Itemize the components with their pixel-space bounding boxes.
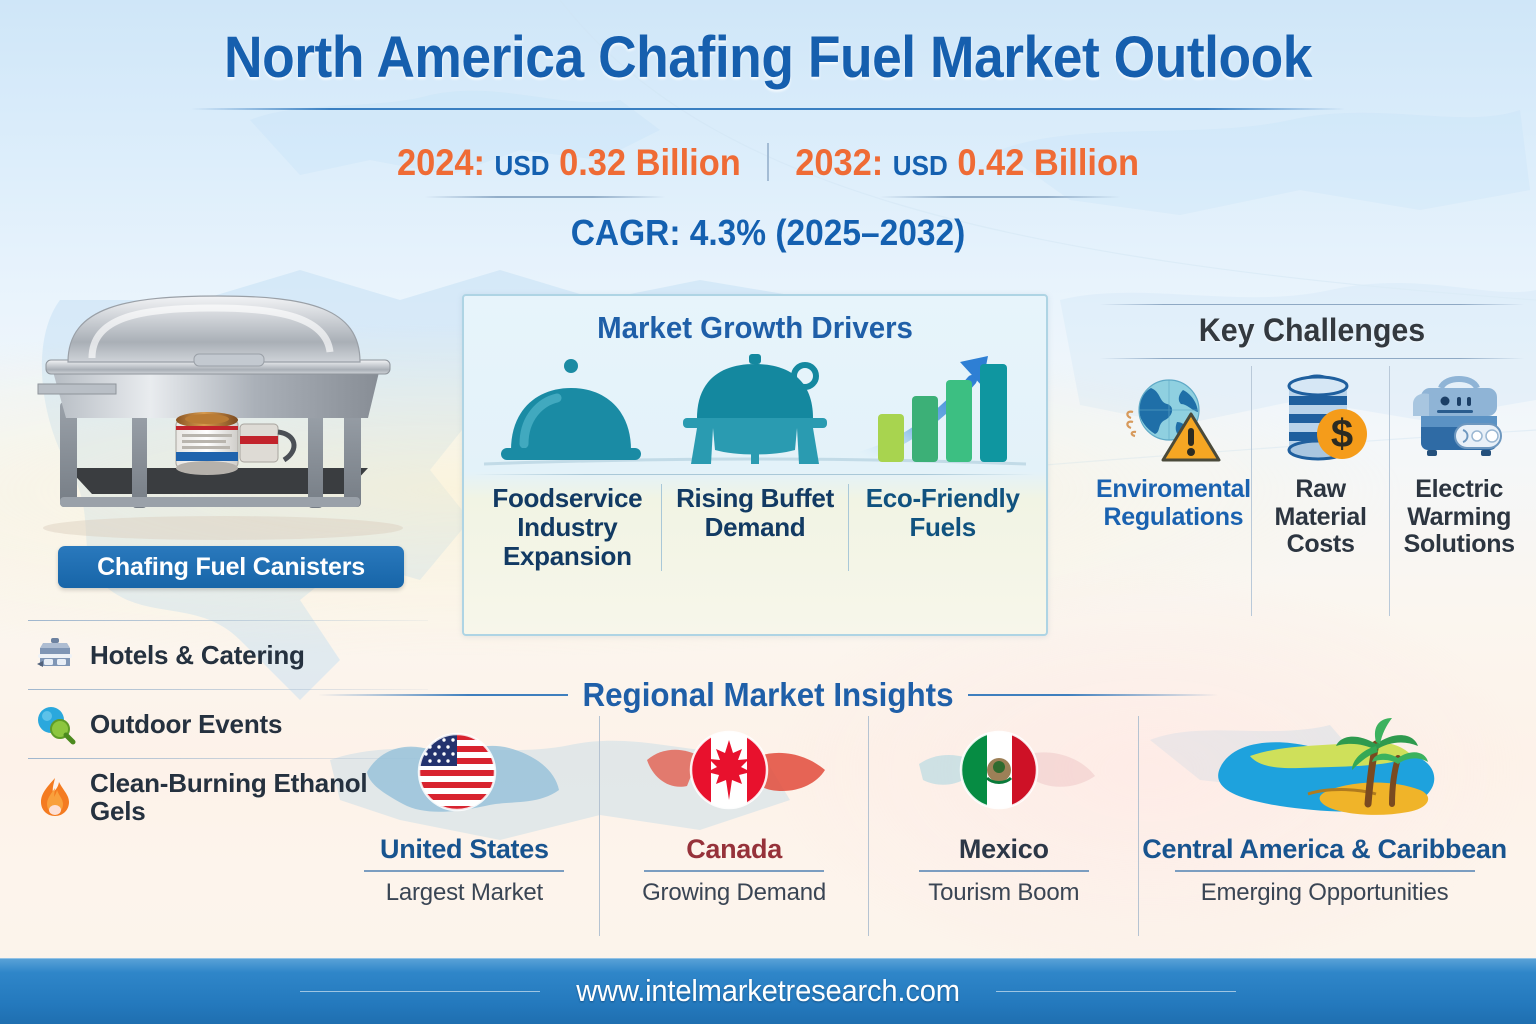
challenge-item-raw-material[interactable]: $ Raw Material Costs xyxy=(1251,366,1390,616)
region-central-america-caribbean[interactable]: Central America & Caribbean Emerging Opp… xyxy=(1138,716,1510,936)
chafing-dish-image xyxy=(8,292,428,542)
globe-magnifier-icon xyxy=(34,703,76,745)
region-canada[interactable]: Canada Growing Demand xyxy=(599,716,869,936)
tropical-island-icon xyxy=(1180,716,1470,834)
stat-divider xyxy=(767,143,769,181)
stat-2024: 2024: USD 0.32 Billion xyxy=(397,142,750,183)
stat-2032: 2032: USD 0.42 Billion xyxy=(795,142,1139,183)
list-item-label: Outdoor Events xyxy=(90,710,282,738)
driver-item-foodservice[interactable]: Foodservice Industry Expansion xyxy=(474,484,661,571)
challenge-item-environmental[interactable]: Enviromental Regulations xyxy=(1096,366,1251,616)
canada-flag-icon xyxy=(629,720,839,830)
market-growth-drivers-panel: Market Growth Drivers xyxy=(462,294,1048,636)
footer-bar: www.intelmarketresearch.com xyxy=(0,958,1536,1024)
challenge-label: Enviromental Regulations xyxy=(1096,476,1251,531)
globe-warning-icon xyxy=(1121,370,1225,466)
region-subtitle: Emerging Opportunities xyxy=(1201,879,1449,907)
stat-2024-value: 0.32 xyxy=(559,142,626,183)
list-item-hotels-catering[interactable]: Hotels & Catering xyxy=(28,621,428,689)
challenges-rule-top xyxy=(1100,304,1524,305)
stat-2032-year: 2032: xyxy=(795,142,883,183)
regional-rule-right xyxy=(968,694,1218,696)
chafing-dish-stand-icon xyxy=(683,354,827,464)
footer-rule-right xyxy=(996,991,1236,992)
challenges-rule-bottom xyxy=(1100,358,1524,359)
drivers-columns: Foodservice Industry Expansion Rising Bu… xyxy=(474,484,1036,571)
us-flag-icon xyxy=(359,720,569,830)
market-value-row: 2024: USD 0.32 Billion 2032: USD 0.42 Bi… xyxy=(54,142,1482,184)
stat-2024-currency: USD xyxy=(495,150,550,181)
footer-url[interactable]: www.intelmarketresearch.com xyxy=(576,973,960,1009)
fuel-can-dollar-icon: $ xyxy=(1271,370,1371,466)
region-name: Central America & Caribbean xyxy=(1142,834,1507,865)
cloche-icon xyxy=(501,359,641,460)
electric-warmer-icon xyxy=(1407,370,1511,466)
region-name: United States xyxy=(380,834,549,865)
challenge-label: Electric Warming Solutions xyxy=(1390,476,1528,559)
region-underline xyxy=(644,870,824,872)
region-name: Canada xyxy=(686,834,782,865)
flame-icon xyxy=(34,776,76,818)
stat-2024-underline xyxy=(425,196,665,198)
region-art xyxy=(899,716,1109,834)
challenges-title: Key Challenges xyxy=(1107,312,1517,349)
region-united-states[interactable]: United States Largest Market xyxy=(330,716,599,936)
list-item-label: Hotels & Catering xyxy=(90,641,305,669)
stat-2032-currency: USD xyxy=(893,150,948,181)
stat-2024-unit: Billion xyxy=(636,142,741,183)
region-mexico[interactable]: Mexico Tourism Boom xyxy=(868,716,1138,936)
region-art xyxy=(1180,716,1470,834)
chafing-dish-icon xyxy=(34,634,76,676)
stat-2032-unit: Billion xyxy=(1034,142,1139,183)
challenge-icon-slot: $ xyxy=(1271,366,1371,470)
region-underline xyxy=(364,870,564,872)
region-subtitle: Tourism Boom xyxy=(928,879,1079,907)
challenge-item-electric-warming[interactable]: Electric Warming Solutions xyxy=(1389,366,1528,616)
footer-rule-left xyxy=(300,991,540,992)
driver-item-buffet[interactable]: Rising Buffet Demand xyxy=(661,484,849,571)
region-art xyxy=(629,716,839,834)
stat-2032-underline xyxy=(880,196,1120,198)
product-badge: Chafing Fuel Canisters xyxy=(58,546,404,588)
svg-text:$: $ xyxy=(1330,412,1352,456)
region-underline xyxy=(1175,870,1475,872)
region-underline xyxy=(919,870,1089,872)
drivers-divider xyxy=(474,474,1036,475)
region-art xyxy=(359,716,569,834)
page-title: North America Chafing Fuel Market Outloo… xyxy=(61,24,1474,91)
regional-list: United States Largest Market xyxy=(330,716,1510,936)
stat-2032-value: 0.42 xyxy=(957,142,1024,183)
challenge-label: Raw Material Costs xyxy=(1252,476,1390,559)
region-subtitle: Growing Demand xyxy=(642,879,826,907)
drivers-title: Market Growth Drivers xyxy=(479,310,1032,346)
cagr-text: CAGR: 4.3% (2025–2032) xyxy=(54,212,1482,254)
challenge-icon-slot xyxy=(1407,366,1511,470)
key-challenges-panel: Key Challenges xyxy=(1096,300,1528,620)
stat-2024-year: 2024: xyxy=(397,142,485,183)
title-underline xyxy=(191,108,1345,110)
drivers-illustration xyxy=(464,346,1046,474)
challenge-icon-slot xyxy=(1121,366,1225,470)
driver-item-eco-fuels[interactable]: Eco-Friendly Fuels xyxy=(848,484,1036,571)
mexico-flag-icon xyxy=(899,720,1109,830)
infographic-root: North America Chafing Fuel Market Outloo… xyxy=(0,0,1536,1024)
footer-content: www.intelmarketresearch.com xyxy=(0,958,1536,1024)
region-name: Mexico xyxy=(959,834,1049,865)
region-subtitle: Largest Market xyxy=(386,879,543,907)
challenges-columns: Enviromental Regulations $ xyxy=(1096,366,1528,616)
